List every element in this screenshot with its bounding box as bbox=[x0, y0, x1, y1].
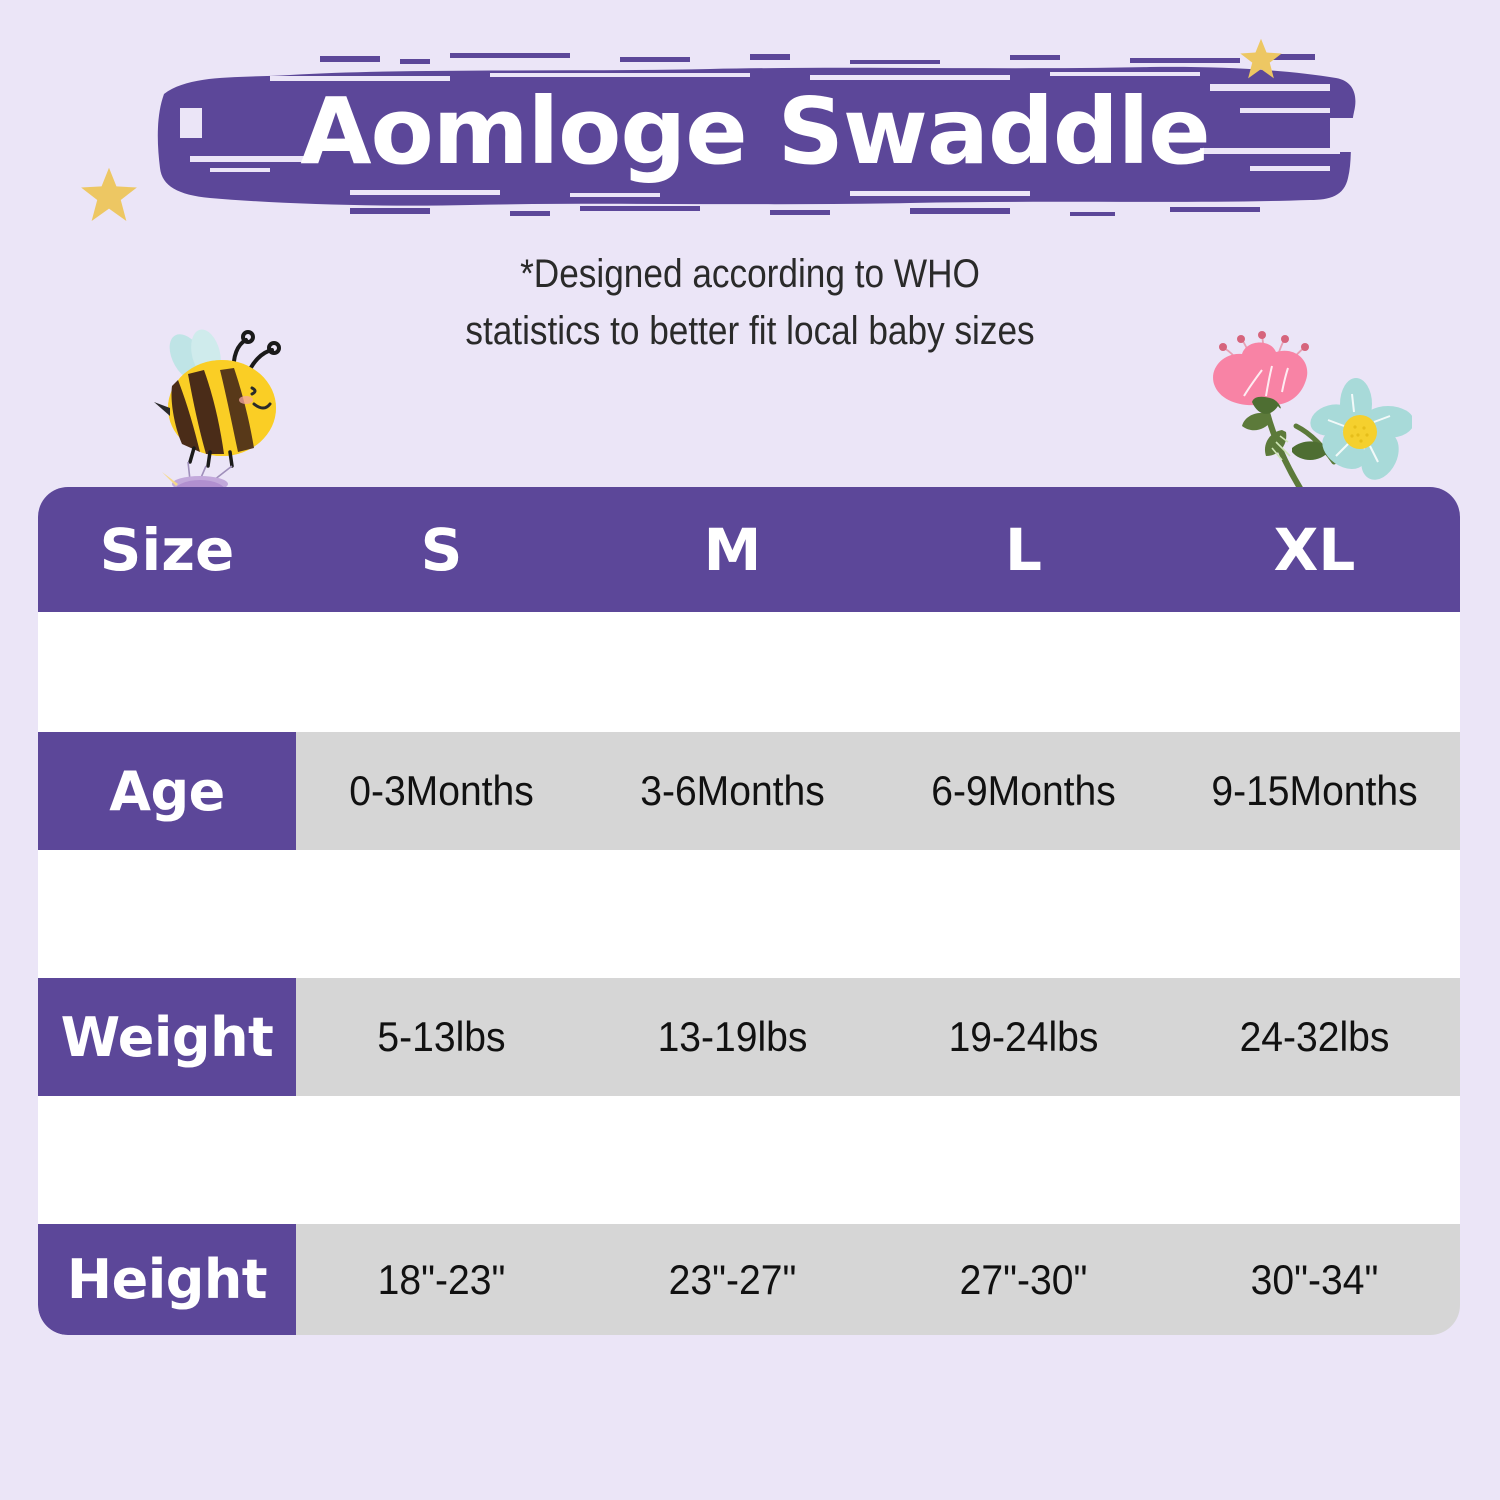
flowers-icon bbox=[1184, 322, 1412, 494]
cell-age-m: 3-6Months bbox=[597, 767, 868, 815]
table-header-row: Size S M L XL bbox=[38, 487, 1460, 612]
title-banner: Aomloge Swaddle bbox=[150, 48, 1360, 218]
size-chart-table: Size S M L XL Age 0-3Months 3-6Months 6-… bbox=[38, 487, 1460, 1335]
star-icon bbox=[1238, 36, 1284, 82]
table-row-height: Height 18"-23" 23"-27" 27"-30" 30"-34" bbox=[38, 1224, 1460, 1335]
row-cells-age: 0-3Months 3-6Months 6-9Months 9-15Months bbox=[296, 732, 1460, 850]
cell-height-s: 18"-23" bbox=[306, 1256, 577, 1304]
page-title: Aomloge Swaddle bbox=[150, 48, 1360, 218]
column-header-l: L bbox=[878, 516, 1169, 584]
row-label-age: Age bbox=[38, 732, 296, 850]
column-header-s: S bbox=[296, 516, 587, 584]
table-row-age: Age 0-3Months 3-6Months 6-9Months 9-15Mo… bbox=[38, 732, 1460, 850]
cell-age-l: 6-9Months bbox=[888, 767, 1159, 815]
column-header-m: M bbox=[587, 516, 878, 584]
cell-age-xl: 9-15Months bbox=[1179, 767, 1450, 815]
row-cells-height: 18"-23" 23"-27" 27"-30" 30"-34" bbox=[296, 1224, 1460, 1335]
cell-weight-s: 5-13lbs bbox=[306, 1013, 577, 1061]
cell-age-s: 0-3Months bbox=[306, 767, 577, 815]
bee-icon bbox=[126, 322, 306, 502]
row-cells-weight: 5-13lbs 13-19lbs 19-24lbs 24-32lbs bbox=[296, 978, 1460, 1096]
cell-height-xl: 30"-34" bbox=[1179, 1256, 1450, 1304]
table-spacer bbox=[38, 1096, 1460, 1224]
column-header-xl: XL bbox=[1169, 516, 1460, 584]
cell-height-m: 23"-27" bbox=[597, 1256, 868, 1304]
row-label-height: Height bbox=[38, 1224, 296, 1335]
subtitle-line-1: *Designed according to WHO bbox=[90, 246, 1410, 303]
cell-height-l: 27"-30" bbox=[888, 1256, 1159, 1304]
cell-weight-m: 13-19lbs bbox=[597, 1013, 868, 1061]
star-icon bbox=[78, 164, 140, 226]
cell-weight-l: 19-24lbs bbox=[888, 1013, 1159, 1061]
cell-weight-xl: 24-32lbs bbox=[1179, 1013, 1450, 1061]
table-spacer bbox=[38, 850, 1460, 978]
column-header-size: Size bbox=[38, 516, 296, 584]
table-row-weight: Weight 5-13lbs 13-19lbs 19-24lbs 24-32lb… bbox=[38, 978, 1460, 1096]
row-label-weight: Weight bbox=[38, 978, 296, 1096]
size-column-headers: S M L XL bbox=[296, 516, 1460, 584]
table-spacer bbox=[38, 612, 1460, 732]
